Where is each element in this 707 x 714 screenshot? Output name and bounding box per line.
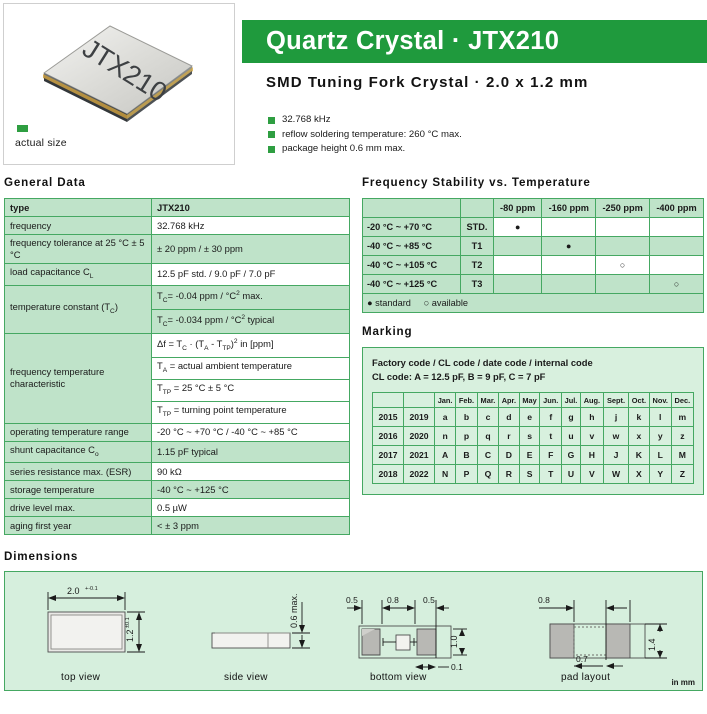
title-area: Quartz Crystal · JTX210 SMD Tuning Fork … [235,0,707,168]
svg-text:+-0.1: +-0.1 [85,586,98,592]
row-value: TC= -0.034 ppm / °C2 typical [152,309,350,333]
bottom-view-dim-right: 0.5 [423,595,435,605]
stability-section: Frequency Stability vs. Temperature -80 … [362,176,704,313]
corner-cell-2 [461,199,494,218]
section-title: General Data [4,176,350,189]
row-key: series resistance max. (ESR) [5,463,152,481]
row-key: drive level max. [5,499,152,517]
row-value: < ± 3 ppm [152,517,350,535]
marking-section: Marking Factory code / CL code / date co… [362,325,704,495]
mark-cell [650,237,704,256]
top-view-caption: top view [61,672,100,683]
row-key: storage temperature [5,481,152,499]
feature-bullets: 32.768 kHz reflow soldering temperature:… [268,113,462,157]
table-row: 2016 2020 n p q r s t u v w x y z [373,427,694,446]
code-cell: c [477,408,498,427]
section-title: Dimensions [4,550,703,563]
row-key: frequency tolerance at 25 °C ± 5 °C [5,235,152,264]
mark-cell [650,275,704,294]
row-value: TA = actual ambient temperature [152,357,350,379]
table-header-row: Jan. Feb. Mar. Apr. May Jun. Jul. Aug. S… [373,393,694,408]
row-value: TTP = 25 °C ± 5 °C [152,379,350,401]
code-cell: s [519,427,540,446]
month-header: Jul. [562,393,581,408]
column-header: -250 ppm [596,199,650,218]
code-cell: D [499,446,520,465]
bottom-view-drawing: 0.5 0.8 0.5 1.0 [346,595,467,672]
row-value: JTX210 [152,199,350,217]
marking-panel: Factory code / CL code / date code / int… [362,347,704,495]
table-row: operating temperature range -20 °C ~ +70… [5,423,350,441]
year-cell: 2020 [404,427,435,446]
code-cell: r [499,427,520,446]
bottom-view-dim-left: 0.5 [346,595,358,605]
table-row: frequency temperature characteristic Δf … [5,333,350,357]
product-title-bar: Quartz Crystal · JTX210 [242,20,707,63]
top-view-height-label: 1.2 [125,629,135,642]
bullet-square-icon [268,117,275,124]
code-cell: Z [671,465,693,484]
mark-cell [596,218,650,237]
code-cell: T [540,465,562,484]
year-cell: 2022 [404,465,435,484]
list-item: package height 0.6 mm max. [268,142,462,157]
row-value: ± 20 ppm / ± 30 ppm [152,235,350,264]
code-cell: b [456,408,478,427]
row-value: 90 kΩ [152,463,350,481]
bottom-view-dim-gap: 0.1 [451,662,463,672]
legend-cell: ● standard ○ available [363,294,704,313]
code-cell: e [519,408,540,427]
row-value: -40 °C ~ +125 °C [152,481,350,499]
table-row: shunt capacitance Co 1.15 pF typical [5,441,350,463]
code-cell: z [671,427,693,446]
table-row: frequency 32.768 kHz [5,217,350,235]
column-header: -160 ppm [542,199,596,218]
year-cell: 2019 [404,408,435,427]
general-data-table: type JTX210 frequency 32.768 kHz frequen… [4,198,350,535]
temp-range: -40 °C ~ +125 °C [363,275,461,294]
column-header: -80 ppm [494,199,542,218]
top-view-width-label: 2.0 [67,586,80,596]
top-view-drawing: 2.0 +-0.1 1.2 ±0.1 [48,586,145,652]
row-key: load capacitance CL [5,264,152,286]
temp-range: -40 °C ~ +105 °C [363,256,461,275]
mark-cell [596,256,650,275]
mark-cell [596,237,650,256]
bullet-square-icon [268,131,275,138]
code-cell: F [540,446,562,465]
code-cell: B [456,446,478,465]
table-row: -40 °C ~ +125 °C T3 [363,275,704,294]
code-cell: g [562,408,581,427]
side-view-drawing: 0.6 max. [212,593,310,648]
actual-size-label: actual size [15,137,67,149]
month-header: Sept. [603,393,628,408]
table-row: 2018 2022 N P Q R S T U V W X Y Z [373,465,694,484]
code-cell: A [435,446,456,465]
code-cell: u [562,427,581,446]
month-header: Mar. [477,393,498,408]
table-row: -40 °C ~ +85 °C T1 [363,237,704,256]
row-key: frequency temperature characteristic [5,333,152,423]
month-header: May [519,393,540,408]
year-cell: 2017 [373,446,404,465]
table-row: frequency tolerance at 25 °C ± 5 °C ± 20… [5,235,350,264]
mark-cell [542,218,596,237]
code-cell: a [435,408,456,427]
table-row: 2015 2019 a b c d e f g h j k l m [373,408,694,427]
crystal-package-image: JTX210 [32,18,202,123]
table-row: series resistance max. (ESR) 90 kΩ [5,463,350,481]
code-cell: V [580,465,603,484]
code-cell: q [477,427,498,446]
temp-range: -40 °C ~ +85 °C [363,237,461,256]
row-key: temperature constant (TC) [5,285,152,333]
row-key: shunt capacitance Co [5,441,152,463]
code-cell: U [562,465,581,484]
bottom-view-caption: bottom view [370,672,427,683]
table-legend-row: ● standard ○ available [363,294,704,313]
month-header: Nov. [649,393,671,408]
code-cell: X [629,465,650,484]
actual-size-swatch [17,125,28,132]
svg-text:±0.1: ±0.1 [125,617,131,628]
code-cell: L [649,446,671,465]
pad-layout-drawing: 0.8 1.4 0.7 [538,595,667,669]
grade-code: STD. [461,218,494,237]
mark-cell [542,256,596,275]
month-header: Feb. [456,393,478,408]
code-cell: p [456,427,478,446]
table-header-row: -80 ppm -160 ppm -250 ppm -400 ppm [363,199,704,218]
table-row: -20 °C ~ +70 °C STD. [363,218,704,237]
code-cell: w [603,427,628,446]
code-cell: k [629,408,650,427]
pad-dim-pitch: 0.8 [538,595,550,605]
corner-cell-2 [404,393,435,408]
legend-standard-label: standard [375,298,411,308]
table-row: storage temperature -40 °C ~ +125 °C [5,481,350,499]
code-cell: E [519,446,540,465]
code-cell: v [580,427,603,446]
row-value: 0.5 µW [152,499,350,517]
row-value: 12.5 pF std. / 9.0 pF / 7.0 pF [152,264,350,286]
page-title: Quartz Crystal · JTX210 [242,27,559,56]
code-cell: n [435,427,456,446]
row-value: TTP = turning point temperature [152,401,350,423]
code-cell: t [540,427,562,446]
section-title: Frequency Stability vs. Temperature [362,176,704,189]
month-header: Jan. [435,393,456,408]
table-row: -40 °C ~ +105 °C T2 [363,256,704,275]
filled-dot-icon: ● [367,298,373,308]
mark-cell [650,256,704,275]
code-cell: x [629,427,650,446]
pad-dim-width: 0.7 [576,654,588,664]
grade-code: T3 [461,275,494,294]
mark-cell [494,256,542,275]
header-block: JTX210 actual size Quartz Crystal · JTX2… [0,0,707,168]
code-cell: S [519,465,540,484]
table-row: temperature constant (TC) TC= -0.04 ppm … [5,285,350,309]
side-view-height-label: 0.6 max. [289,593,299,628]
dimensions-panel: 2.0 +-0.1 1.2 ±0.1 [4,571,703,691]
dimensions-section: Dimensions 2.0 +-0.1 [4,550,703,691]
row-key: type [5,199,152,217]
mark-cell [542,275,596,294]
mark-cell [596,275,650,294]
temp-range: -20 °C ~ +70 °C [363,218,461,237]
code-cell: G [562,446,581,465]
side-view-caption: side view [224,672,268,683]
code-cell: C [477,446,498,465]
mark-cell [494,275,542,294]
marking-line-1: Factory code / CL code / date code / int… [372,356,694,370]
month-header: Jun. [540,393,562,408]
row-value: 1.15 pF typical [152,441,350,463]
code-cell: y [649,427,671,446]
corner-cell [373,393,404,408]
marking-date-code-table: Jan. Feb. Mar. Apr. May Jun. Jul. Aug. S… [372,392,694,484]
general-data-section: General Data type JTX210 frequency 32.76… [4,176,350,535]
code-cell: j [603,408,628,427]
product-subtitle: SMD Tuning Fork Crystal · 2.0 x 1.2 mm [266,74,588,91]
pad-dim-height: 1.4 [647,638,657,651]
row-value: Δf = TC · (TA - TTP)2 in [ppm] [152,333,350,357]
code-cell: K [629,446,650,465]
list-item: reflow soldering temperature: 260 °C max… [268,128,462,143]
year-cell: 2021 [404,446,435,465]
code-cell: l [649,408,671,427]
code-cell: J [603,446,628,465]
bottom-view-dim-height: 1.0 [449,635,459,648]
code-cell: P [456,465,478,484]
year-cell: 2016 [373,427,404,446]
unit-note: in mm [671,678,695,687]
code-cell: N [435,465,456,484]
legend-available-label: available [432,298,468,308]
section-title: Marking [362,325,704,338]
row-key: frequency [5,217,152,235]
table-row: load capacitance CL 12.5 pF std. / 9.0 p… [5,264,350,286]
list-item: 32.768 kHz [268,113,462,128]
code-cell: d [499,408,520,427]
mark-cell [494,237,542,256]
grade-code: T2 [461,256,494,275]
month-header: Apr. [499,393,520,408]
row-value: -20 °C ~ +70 °C / -40 °C ~ +85 °C [152,423,350,441]
code-cell: Q [477,465,498,484]
mark-cell [494,218,542,237]
corner-cell [363,199,461,218]
code-cell: R [499,465,520,484]
month-header: Aug. [580,393,603,408]
row-value: TC= -0.04 ppm / °C2 max. [152,285,350,309]
code-cell: m [671,408,693,427]
bottom-view-dim-mid: 0.8 [387,595,399,605]
month-header: Dec. [671,393,693,408]
bullet-text: reflow soldering temperature: 260 °C max… [282,128,462,143]
code-cell: M [671,446,693,465]
mark-cell [542,237,596,256]
pad-layout-caption: pad layout [561,672,610,683]
bullet-text: 32.768 kHz [282,113,331,128]
bullet-square-icon [268,146,275,153]
table-row: aging first year < ± 3 ppm [5,517,350,535]
open-dot-icon: ○ [424,298,430,308]
code-cell: h [580,408,603,427]
row-key: operating temperature range [5,423,152,441]
row-value: 32.768 kHz [152,217,350,235]
code-cell: Y [649,465,671,484]
stability-table: -80 ppm -160 ppm -250 ppm -400 ppm -20 °… [362,198,704,313]
bullet-text: package height 0.6 mm max. [282,142,405,157]
row-key: aging first year [5,517,152,535]
year-cell: 2015 [373,408,404,427]
mark-cell [650,218,704,237]
month-header: Oct. [629,393,650,408]
year-cell: 2018 [373,465,404,484]
table-row: drive level max. 0.5 µW [5,499,350,517]
code-cell: f [540,408,562,427]
product-photo-panel: JTX210 actual size [3,3,235,165]
marking-line-2: CL code: A = 12.5 pF, B = 9 pF, C = 7 pF [372,370,694,384]
table-row: 2017 2021 A B C D E F G H J K L M [373,446,694,465]
grade-code: T1 [461,237,494,256]
column-header: -400 ppm [650,199,704,218]
code-cell: H [580,446,603,465]
table-row: type JTX210 [5,199,350,217]
code-cell: W [603,465,628,484]
